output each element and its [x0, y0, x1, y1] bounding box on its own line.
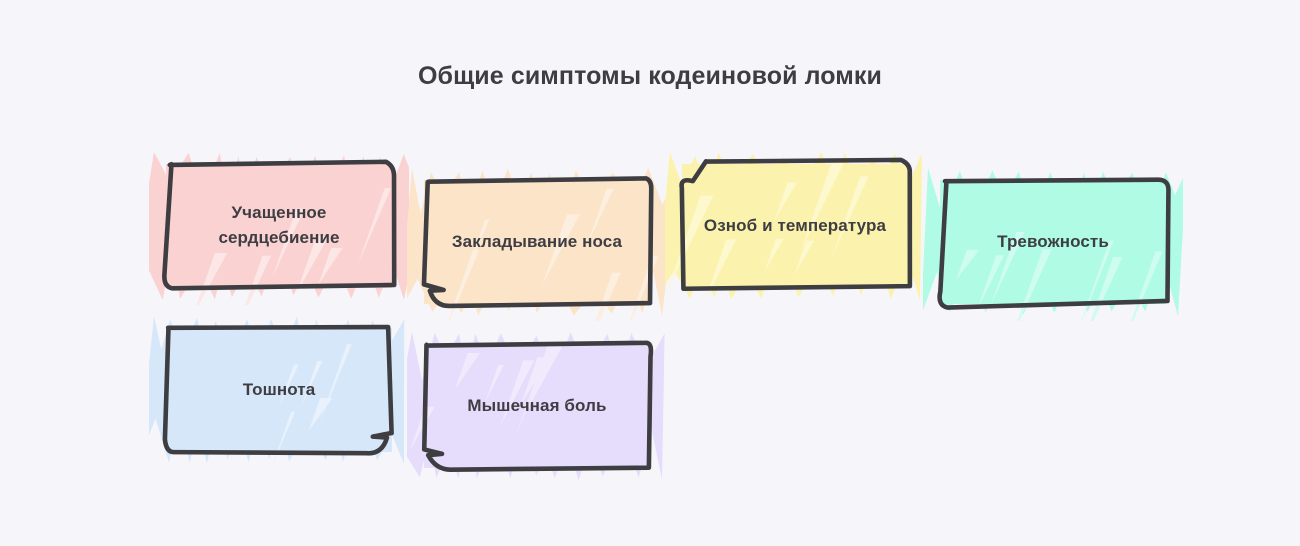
symptom-card-grid: Учащенное сердцебиениеЗакладывание носаО…: [0, 0, 1300, 546]
card-sketch-shape: [679, 161, 911, 291]
symptom-card: Тревожность: [937, 177, 1169, 307]
infographic-root: Общие симптомы кодеиновой ломки Учащенно…: [0, 0, 1300, 546]
card-sketch-shape: [163, 161, 395, 291]
symptom-card: Тошнота: [163, 325, 395, 455]
card-fill-core: [940, 180, 1166, 304]
card-sketch-shape: [421, 341, 653, 471]
card-fill-core: [166, 328, 392, 452]
symptom-card: Учащенное сердцебиение: [163, 161, 395, 291]
symptom-card: Мышечная боль: [421, 341, 653, 471]
card-sketch-shape: [163, 325, 395, 455]
symptom-card: Озноб и температура: [679, 161, 911, 291]
card-fill-core: [166, 164, 392, 288]
card-sketch-shape: [421, 177, 653, 307]
card-fill-core: [424, 180, 650, 304]
symptom-card: Закладывание носа: [421, 177, 653, 307]
card-sketch-shape: [937, 177, 1169, 307]
